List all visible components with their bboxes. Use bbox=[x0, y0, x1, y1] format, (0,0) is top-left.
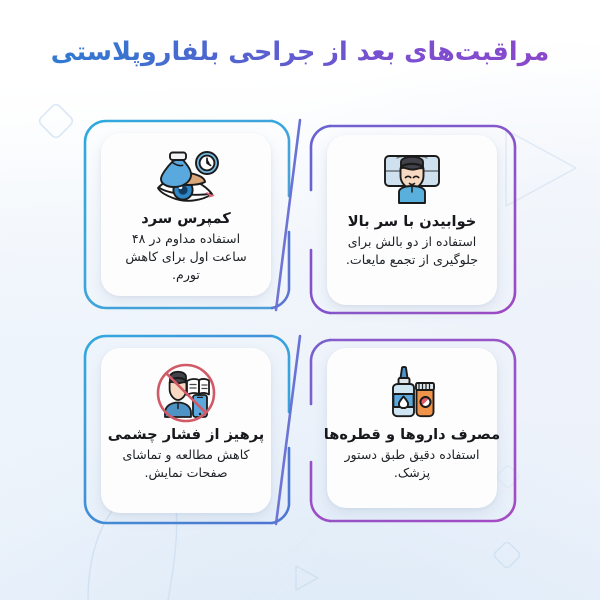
deco-square-midright bbox=[496, 465, 520, 489]
card-title: کمپرس سرد bbox=[141, 210, 230, 229]
deco-square-topleft bbox=[38, 103, 75, 140]
card-title: مصرف داروها و قطره‌ها bbox=[324, 426, 500, 445]
card-avoid-eye-strain[interactable]: پرهیز از فشار چشمی کاهش مطالعه و تماشای … bbox=[101, 348, 271, 513]
card-title: پرهیز از فشار چشمی bbox=[108, 426, 265, 445]
card-title: خوابیدن با سر بالا bbox=[348, 213, 476, 232]
card-description: استفاده دقیق طبق دستور پزشک. bbox=[340, 446, 484, 482]
eye-drop-bottle-pill-bottle-icon bbox=[380, 362, 444, 424]
connector-top bbox=[276, 120, 300, 310]
no-reading-screen-icon bbox=[153, 362, 219, 424]
deco-diag-line-bottom bbox=[248, 512, 330, 600]
deco-square-bottomright bbox=[493, 541, 521, 569]
card-description: استفاده مداوم در ۴۸ ساعت اول برای کاهش ت… bbox=[114, 230, 258, 284]
deco-triangle-right bbox=[506, 130, 576, 206]
page-title: مراقبت‌های بعد از جراحی بلفاروپلاستی bbox=[0, 34, 600, 70]
background-decorations bbox=[0, 0, 600, 600]
deco-triangle-small-bottom bbox=[296, 566, 318, 590]
deco-diag-line-bottom-2 bbox=[272, 512, 352, 600]
card-cold-compress[interactable]: کمپرس سرد استفاده مداوم در ۴۸ ساعت اول ب… bbox=[101, 133, 271, 296]
card-head-elevated-sleep[interactable]: خوابیدن با سر بالا استفاده از دو بالش بر… bbox=[327, 135, 497, 305]
ice-pack-eye-clock-icon bbox=[147, 147, 225, 208]
card-description: کاهش مطالعه و تماشای صفحات نمایش. bbox=[114, 446, 258, 482]
card-medications-drops[interactable]: مصرف داروها و قطره‌ها استفاده دقیق طبق د… bbox=[327, 348, 497, 508]
card-description: استفاده از دو بالش برای جلوگیری از تجمع … bbox=[340, 233, 484, 269]
card-frames bbox=[0, 0, 600, 600]
connector-bottom bbox=[276, 336, 300, 524]
infographic-canvas: مراقبت‌های بعد از جراحی بلفاروپلاستی bbox=[0, 0, 600, 600]
person-sleeping-pillow-icon bbox=[376, 149, 448, 211]
